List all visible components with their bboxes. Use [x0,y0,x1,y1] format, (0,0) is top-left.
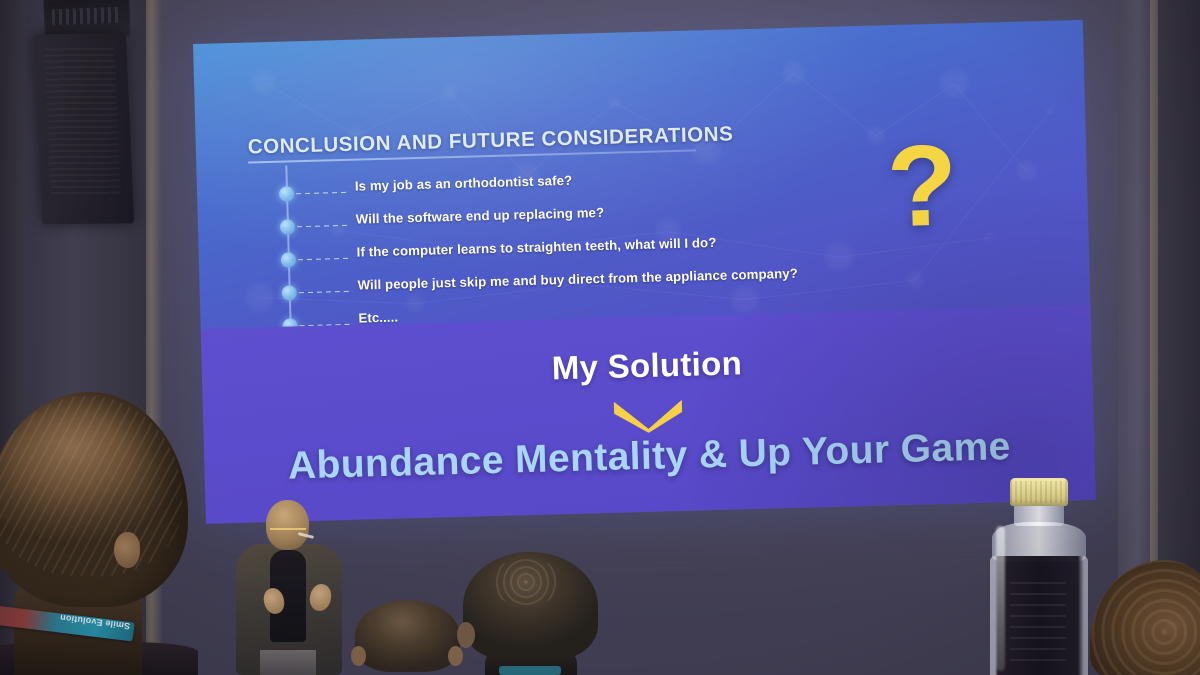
presentation-slide: CONCLUSION AND FUTURE CONSIDERATIONS Is … [193,20,1096,524]
presentation-room-photo: CONCLUSION AND FUTURE CONSIDERATIONS Is … [0,0,1200,675]
audience-ear [457,622,475,648]
solution-banner: My Solution Abundance Mentality & Up You… [201,305,1096,524]
speaker-grille [44,48,121,198]
bullet-connector [299,291,353,294]
solution-title: My Solution [202,335,1093,397]
speaker-cabinet [34,34,134,225]
audience-member-right [1090,560,1200,675]
solution-headline: Abundance Mentality & Up Your Game [204,423,1095,491]
presenter-on-stage [222,500,357,675]
presenter-trousers [260,650,316,675]
bullet-connector [297,225,351,228]
audience-collar [499,666,561,675]
bullet-dot-icon [282,285,297,300]
water-bottle [980,478,1098,675]
audience-ear-right [448,646,463,666]
bottle-label [1010,582,1066,662]
bottle-highlight [996,526,1005,671]
bullet-dot-icon [281,252,296,267]
audience-member-center-small [355,600,460,675]
bullet-dot-icon [280,219,295,234]
audience-ear [114,532,140,568]
line-array-speaker [34,0,144,236]
bullet-label: Is my job as an orthodontist safe? [355,173,573,194]
bullet-connector [296,192,350,195]
network-line [794,73,876,137]
hair-swirl-texture [491,558,561,606]
audience-hair [355,600,460,672]
bottle-cap-ridges [1010,481,1068,503]
presenter-head [266,500,309,550]
question-mark-icon: ? [886,128,959,245]
bullet-dot-icon [279,186,294,201]
audience-member-center-large [463,552,598,675]
hair-curl-texture [1090,560,1200,675]
network-line [355,92,449,135]
audience-member-foreground-left: Smile Evolution [0,392,203,675]
network-line [264,82,356,135]
bullet-label: Will the software end up replacing me? [356,205,605,227]
bullet-connector [298,258,352,261]
chevron-down-icon [612,398,685,434]
projection-screen: CONCLUSION AND FUTURE CONSIDERATIONS Is … [193,20,1096,524]
audience-ear-left [351,646,366,666]
bottle-neck [1014,504,1064,526]
